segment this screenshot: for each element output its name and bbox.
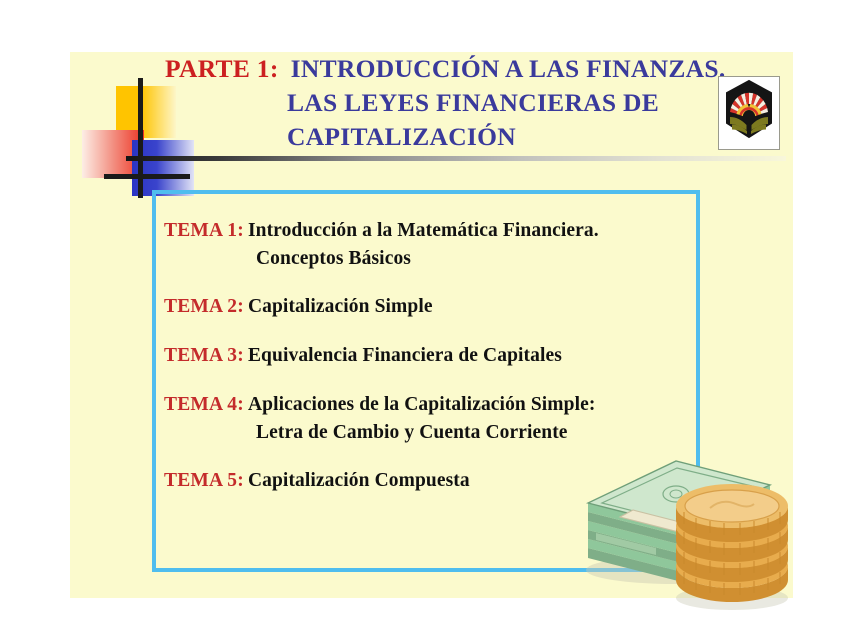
slide-canvas: PARTE 1:INTRODUCCIÓN A LAS FINANZAS. LAS… [70, 52, 793, 598]
tema-title-3: Equivalencia Financiera de Capitales [248, 345, 562, 366]
coin-stack [676, 484, 788, 610]
tema-title-1: Introducción a la Matemática Financiera. [248, 220, 599, 241]
slide-root: PARTE 1:INTRODUCCIÓN A LAS FINANZAS. LAS… [0, 0, 848, 636]
tema-label-5: TEMA 5: [164, 470, 244, 491]
title-text-line-1: INTRODUCCIÓN A LAS FINANZAS. [291, 54, 726, 83]
deco-horizontal-bar [104, 174, 190, 179]
tema-label-2: TEMA 2: [164, 296, 244, 317]
tema-label-3: TEMA 3: [164, 345, 244, 366]
title-text-line-3: CAPITALIZACIÓN [165, 120, 765, 154]
tema-label-1: TEMA 1: [164, 220, 244, 241]
tema-subline-1: Conceptos Básicos [164, 245, 694, 272]
tema-item-2: TEMA 2: Capitalización Simple [164, 293, 694, 321]
money-graphic [564, 420, 812, 620]
money-and-coins-clipart [564, 420, 812, 620]
tema-title-2: Capitalización Simple [248, 296, 433, 317]
part-label: PARTE 1: [165, 54, 279, 83]
tema-title-5: Capitalización Compuesta [248, 470, 470, 491]
title-text-line-2: LAS LEYES FINANCIERAS DE [165, 86, 765, 120]
title-line-1: PARTE 1:INTRODUCCIÓN A LAS FINANZAS. [165, 52, 765, 86]
title-divider-rule [126, 156, 786, 161]
tema-item-1: TEMA 1: Introducción a la Matemática Fin… [164, 217, 694, 272]
tema-item-3: TEMA 3: Equivalencia Financiera de Capit… [164, 342, 694, 370]
universidad-de-granada-emblem [718, 76, 780, 150]
tema-label-4: TEMA 4: [164, 394, 244, 415]
deco-vertical-bar [138, 78, 143, 198]
emblem-graphic [719, 77, 779, 149]
slide-title: PARTE 1:INTRODUCCIÓN A LAS FINANZAS. LAS… [165, 52, 765, 154]
tema-title-4: Aplicaciones de la Capitalización Simple… [248, 394, 596, 415]
